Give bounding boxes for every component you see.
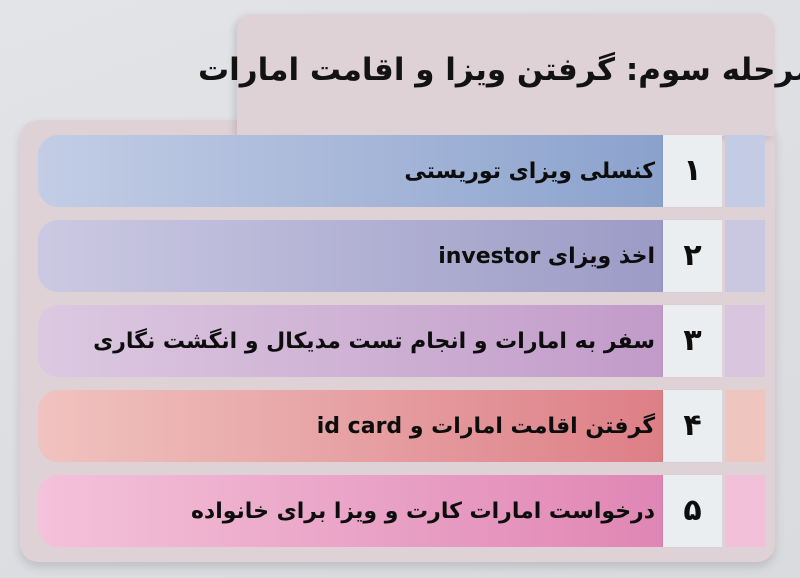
step-row[interactable]: گرفتن اقامت امارات و id card۴ [20,390,775,462]
step-number: ۴ [683,411,701,441]
step-accent-strip [725,135,765,207]
step-bar [38,390,663,462]
title-card: مرحله سوم: گرفتن ویزا و اقامت امارات [237,14,775,136]
step-accent-strip [725,220,765,292]
step-row[interactable]: سفر به امارات و انجام تست مدیکال و انگشت… [20,305,775,377]
step-row[interactable]: کنسلی ویزای توریستی۱ [20,135,775,207]
step-bar [38,220,663,292]
step-accent-strip [725,475,765,547]
step-bar [38,475,663,547]
step-bar [38,305,663,377]
step-accent-strip [725,390,765,462]
step-number: ۳ [683,326,701,356]
step-accent-strip [725,305,765,377]
slide-canvas: مرحله سوم: گرفتن ویزا و اقامت امارات کنس… [0,0,800,578]
step-number-box: ۲ [663,220,722,292]
step-row[interactable]: اخذ ویزای investor۲ [20,220,775,292]
step-number: ۵ [683,496,701,526]
page-title: مرحله سوم: گرفتن ویزا و اقامت امارات [198,51,800,90]
step-bar [38,135,663,207]
step-number: ۲ [683,241,701,271]
step-number-box: ۱ [663,135,722,207]
step-row[interactable]: درخواست امارات کارت و ویزا برای خانواده۵ [20,475,775,547]
steps-list: کنسلی ویزای توریستی۱اخذ ویزای investor۲س… [20,120,775,562]
step-number: ۱ [683,156,701,186]
step-number-box: ۳ [663,305,722,377]
step-number-box: ۴ [663,390,722,462]
step-number-box: ۵ [663,475,722,547]
